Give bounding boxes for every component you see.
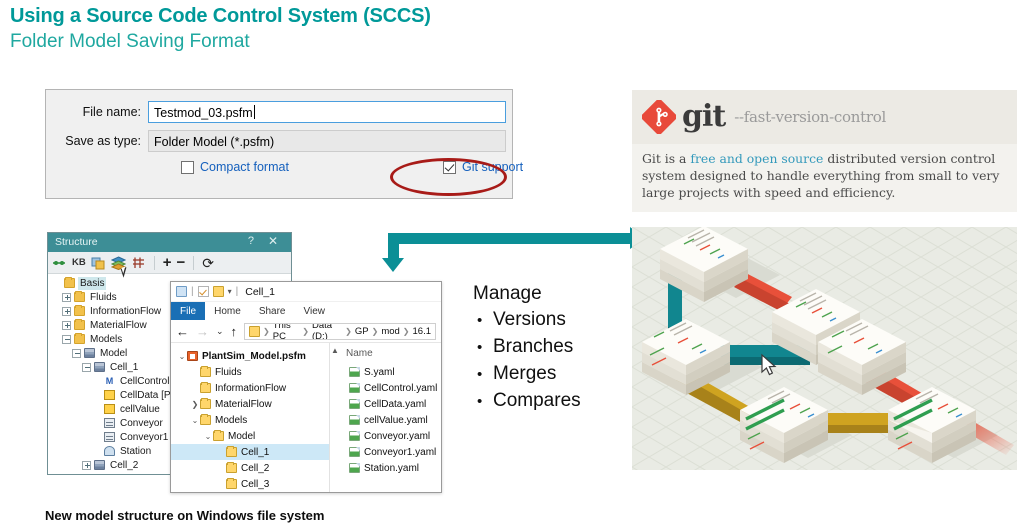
yaml-file-icon [349,447,360,457]
explorer-tree-item-label: MaterialFlow [215,399,272,410]
explorer-tree-item[interactable]: Cell_2 [171,460,329,476]
table-icon [104,390,115,400]
add-icon[interactable]: + [163,257,172,269]
bullet-icon: • [473,308,493,334]
compact-format-checkbox[interactable]: Compact format [181,160,289,174]
explorer-tree-item-label: InformationFlow [215,383,286,394]
psfm-file-icon [187,351,198,361]
frame-icon [94,460,105,470]
flow-arrow-horizontal [388,233,640,244]
ribbon-tab-share[interactable]: Share [250,302,295,320]
explorer-tree-item[interactable]: Cell_3 [171,476,329,492]
toolbar-separator [154,256,155,270]
explorer-window-title: Cell_1 [245,286,275,298]
breadcrumb-folder-icon [249,326,260,337]
folder-icon [213,431,224,441]
structure-titlebar[interactable]: Structure ? ✕ [48,233,291,252]
scroll-up-icon[interactable]: ▲ [331,346,339,355]
explorer-file-name: cellValue.yaml [364,415,428,426]
connector-icon[interactable] [52,256,67,270]
save-as-type-row: Save as type: Folder Model (*.psfm) [56,130,506,152]
save-as-type-label: Save as type: [56,134,148,148]
git-wordmark: git [682,102,725,132]
column-header-name[interactable]: Name [339,348,441,364]
folder-icon [200,383,211,393]
conv-icon [104,432,115,442]
structure-tree-item-label: Conveyor1 [118,431,170,444]
explorer-titlebar[interactable]: | ▾ | Cell_1 [171,282,441,302]
explorer-tree-item-label: Cell_1 [241,447,269,458]
explorer-ribbon-tabs: FileHomeShareView [171,302,441,320]
figure-caption: New model structure on Windows file syst… [45,508,324,523]
manage-list-item-label: Merges [493,361,556,387]
explorer-tree-item-label: Models [215,415,247,426]
folder-icon [200,367,211,377]
remove-icon[interactable]: − [177,257,186,269]
structure-tree-item-label: Cell_3 [108,473,140,475]
breadcrumb-segment[interactable]: GP [355,326,369,337]
separator-2: | [236,286,239,297]
breadcrumb-segment[interactable]: Data (D:) [312,323,342,340]
file-name-row: File name: Testmod_03.psfm [56,101,506,123]
explorer-file-item[interactable]: CellData.yaml [339,396,441,412]
git-panel-header: git --fast-version-control [632,90,1017,144]
chevron-right-icon[interactable]: ❯ [190,400,200,409]
ribbon-tab-view[interactable]: View [295,302,335,320]
forward-icon[interactable]: → [196,325,209,338]
refresh-icon[interactable]: ⟳ [202,257,214,269]
breadcrumb-separator: ❯ [263,327,270,336]
structure-tree-item-label: Station [118,445,153,458]
explorer-navigation-bar: ← → ⌄ ↑ ❯This PC❯Data (D:)❯GP❯mod❯16.1 [171,320,441,343]
explorer-file-item[interactable]: Conveyor.yaml [339,428,441,444]
folder-icon [74,292,85,302]
folder-icon [74,320,85,330]
structure-tree-item-label: Basis [78,277,106,290]
folder-icon [226,479,237,489]
breadcrumb-separator: ❯ [372,327,379,336]
bullet-icon: • [473,362,493,388]
toolbar-separator-2 [193,256,194,270]
explorer-tree-item-label: Cell_3 [241,479,269,490]
explorer-tree-item-label: Model [228,431,255,442]
dropdown-caret-icon[interactable]: ▾ [228,287,232,296]
frame-icon [84,348,95,358]
back-icon[interactable]: ← [176,325,189,338]
yaml-file-icon [349,463,360,473]
git-tagline: --fast-version-control [734,108,886,126]
collapse-icon[interactable] [62,335,71,344]
explorer-file-item[interactable]: Station.yaml [339,460,441,476]
page-title: Using a Source Code Control System (SCCS… [10,4,431,54]
breadcrumb-segment[interactable]: 16.1 [413,326,432,337]
explorer-file-name: CellControl.yaml [364,383,437,394]
yaml-file-icon [349,399,360,409]
git-logo-icon [642,100,676,134]
structure-tree-item-label: InformationFlow [88,305,163,318]
yaml-file-icon [349,367,360,377]
explorer-file-item[interactable]: S.yaml [339,364,441,380]
manage-list-item-label: Branches [493,334,573,360]
ribbon-tab-file[interactable]: File [171,302,205,320]
folder-icon [200,415,211,425]
structure-tree-item-label: Model [98,347,129,360]
structure-tree-item-label: Fluids [88,291,119,304]
git-support-highlight-ellipse [390,158,507,196]
structure-tree-item-label: Cell_1 [108,361,140,374]
manage-list: Manage •Versions•Branches•Merges•Compare… [473,281,633,415]
expand-icon[interactable] [62,293,71,302]
manage-list-item-label: Compares [493,388,581,414]
explorer-file-name: CellData.yaml [364,399,426,410]
structure-tree-item-label: cellValue [118,403,162,416]
checkbox-box[interactable] [181,161,194,174]
explorer-tree-item-label: Fluids [215,367,242,378]
manage-list-item: •Merges [473,361,633,388]
breadcrumb-separator: ❯ [302,327,309,336]
flow-arrow-down-head [382,258,404,272]
file-name-label: File name: [56,105,148,119]
kb-icon[interactable]: KB [72,257,86,268]
compact-format-label: Compact format [200,160,289,174]
manage-list-item: •Compares [473,388,633,415]
station-icon [104,446,115,456]
folder-icon[interactable] [213,286,224,297]
explorer-file-name: Conveyor1.yaml [364,447,436,458]
explorer-tree-item-label: PlantSim_Model.psfm [202,351,306,362]
explorer-tree-item[interactable]: ❯MaterialFlow [171,396,329,412]
file-name-input[interactable]: Testmod_03.psfm [148,101,506,123]
recent-locations-icon[interactable]: ⌄ [216,326,224,337]
explorer-tree-item[interactable]: Fluids [171,364,329,380]
explorer-tree-item[interactable]: InformationFlow [171,380,329,396]
explorer-splitter[interactable]: ▲ [329,343,339,492]
yaml-file-icon [349,383,360,393]
manage-list-item: •Versions [473,307,633,334]
explorer-tree-item[interactable]: ⌄Models [171,412,329,428]
explorer-file-item[interactable]: CellControl.yaml [339,380,441,396]
explorer-tree-item-label: Cell_2 [241,463,269,474]
separator: | [191,286,194,297]
frame-icon [94,362,105,372]
text-caret [254,105,255,119]
explorer-file-name: Station.yaml [364,463,419,474]
explorer-tree-item[interactable]: ⌄Model [171,428,329,444]
expand-icon[interactable] [62,321,71,330]
up-icon[interactable]: ↑ [231,325,238,338]
expand-icon[interactable] [82,461,91,470]
structure-tree-item-label: Cell_2 [108,459,140,472]
git-commit-graph-illustration [632,227,1017,470]
method-icon: M [104,376,115,386]
git-info-panel: git --fast-version-control Git is a free… [632,90,1017,212]
structure-tree-item-label: Models [88,333,124,346]
breadcrumb-separator: ❯ [345,327,352,336]
manage-list-item-label: Versions [493,307,566,333]
file-name-value: Testmod_03.psfm [154,106,253,120]
structure-tree-item-label: MaterialFlow [88,319,149,332]
folder-icon [226,447,237,457]
manage-list-item: •Branches [473,334,633,361]
collapse-icon[interactable] [82,363,91,372]
breadcrumb[interactable]: ❯This PC❯Data (D:)❯GP❯mod❯16.1 [244,323,436,340]
explorer-body: ⌄PlantSim_Model.psfmFluidsInformationFlo… [171,343,441,492]
manage-title: Manage [473,281,633,307]
structure-tree-item-label: CellControl [118,375,171,388]
expand-icon[interactable] [62,307,71,316]
explorer-file-name: S.yaml [364,367,395,378]
check-icon[interactable] [198,286,209,297]
ribbon-tab-home[interactable]: Home [205,302,250,320]
yaml-file-icon [349,415,360,425]
breadcrumb-separator: ❯ [403,327,410,336]
page-title-line1: Using a Source Code Control System (SCCS… [10,4,431,28]
chevron-down-icon[interactable]: ⌄ [190,416,200,425]
yaml-file-icon [349,431,360,441]
page-title-line2: Folder Model Saving Format [10,30,431,54]
explorer-file-item[interactable]: cellValue.yaml [339,412,441,428]
folder-icon [64,278,75,288]
explorer-file-list[interactable]: Name S.yamlCellControl.yamlCellData.yaml… [339,343,441,492]
free-and-open-source-link[interactable]: free and open source [690,151,823,166]
git-description: Git is a free and open source distribute… [642,150,1004,201]
grid-icon[interactable] [131,256,146,270]
explorer-tree-item[interactable]: ⌄PlantSim_Model.psfm [171,348,329,364]
help-icon[interactable]: ? [248,235,254,247]
close-icon[interactable]: ✕ [268,235,278,248]
breadcrumb-segment[interactable]: mod [381,326,399,337]
breadcrumb-segment[interactable]: This PC [273,323,300,340]
folder-icon [200,399,211,409]
collapse-icon[interactable] [72,349,81,358]
save-as-type-select[interactable]: Folder Model (*.psfm) [148,130,506,152]
explorer-nav-pane[interactable]: ⌄PlantSim_Model.psfmFluidsInformationFlo… [171,343,329,492]
duplicate-icon[interactable] [91,256,106,270]
git-description-before: Git is a [642,151,690,166]
structure-toolbar: KB + − ⟳ [48,252,291,274]
file-explorer-window: | ▾ | Cell_1 FileHomeShareView ← → ⌄ ↑ ❯… [170,281,442,493]
chevron-down-icon[interactable]: ⌄ [203,432,213,441]
bullet-icon: • [473,389,493,415]
conv-icon [104,418,115,428]
folder-icon [226,463,237,473]
folder-icon [74,334,85,344]
explorer-tree-item[interactable]: Cell_1 [171,444,329,460]
chevron-down-icon[interactable]: ⌄ [177,352,187,361]
structure-tree-item-label: Conveyor [118,417,165,430]
folder-blue-icon[interactable] [176,286,187,297]
explorer-file-name: Conveyor.yaml [364,431,430,442]
folder-icon [74,306,85,316]
bullet-icon: • [473,335,493,361]
value-icon [104,404,115,414]
structure-window-title: Structure [55,236,98,248]
explorer-file-item[interactable]: Conveyor1.yaml [339,444,441,460]
